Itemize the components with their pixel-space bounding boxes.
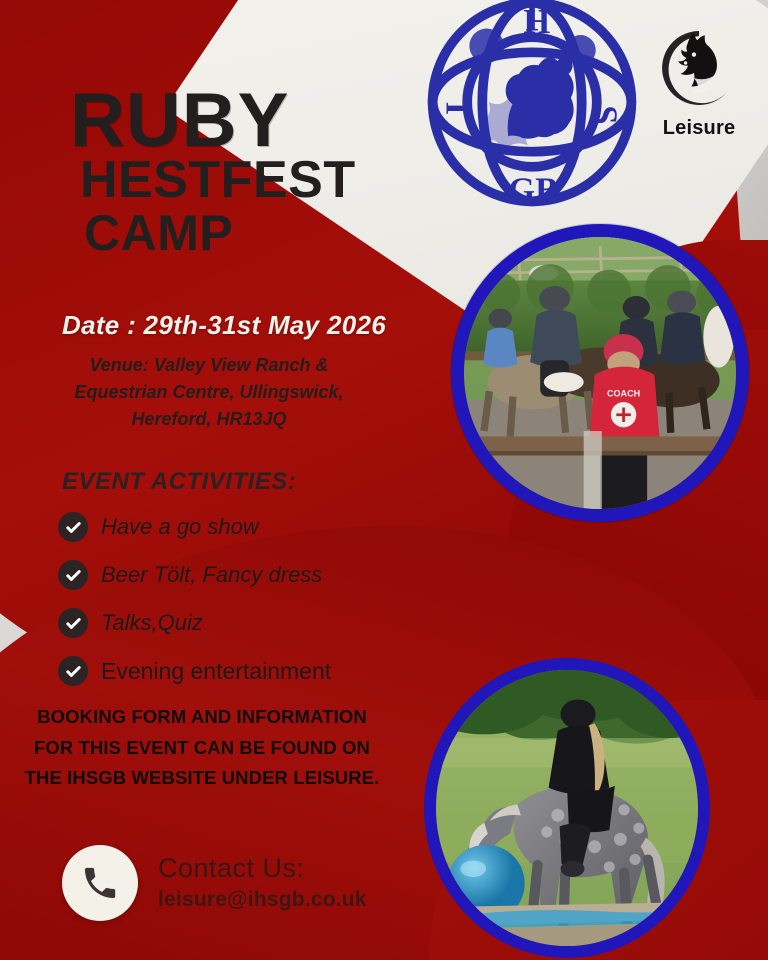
poster-canvas: RUBY HESTFEST CAMP Date : 29th-31st May … xyxy=(0,0,768,960)
logo-letter-gb: GB xyxy=(508,171,558,209)
list-item-label: Talks,Quiz xyxy=(101,610,203,636)
booking-information: BOOKING FORM AND INFORMATION FOR THIS EV… xyxy=(22,702,382,794)
contact-block: Contact Us: leisure@ihsgb.co.uk xyxy=(62,845,367,921)
phone-icon xyxy=(62,845,138,921)
title-line-hestfest: HESTFEST xyxy=(80,153,356,207)
list-item-label: Have a go show xyxy=(101,514,259,540)
event-venue: Venue: Valley View Ranch & Equestrian Ce… xyxy=(44,352,374,433)
photo-riders-with-coach: COACH xyxy=(451,224,749,522)
title-line-ruby: RUBY xyxy=(70,88,356,153)
event-date: Date : 29th-31st May 2026 xyxy=(62,310,386,341)
contact-title: Contact Us: xyxy=(158,854,367,884)
activities-heading: EVENT ACTIVITIES: xyxy=(62,468,296,496)
page-title: RUBY HESTFEST CAMP xyxy=(70,88,356,259)
contact-email: leisure@ihsgb.co.uk xyxy=(158,888,367,912)
title-line-camp: CAMP xyxy=(84,207,356,259)
check-circle-icon xyxy=(58,560,88,590)
contact-text: Contact Us: leisure@ihsgb.co.uk xyxy=(158,854,367,912)
list-item: Beer Tölt, Fancy dress xyxy=(58,560,331,590)
leisure-logo-label: Leisure xyxy=(648,117,750,140)
photo-dapple-grey-horse xyxy=(424,658,710,958)
check-circle-icon xyxy=(58,512,88,542)
ihsgb-roundel-logo: I I H S I GB xyxy=(424,0,640,210)
list-item: Talks,Quiz xyxy=(58,608,331,638)
list-item-label: Evening entertainment xyxy=(101,658,331,685)
list-item-label: Beer Tölt, Fancy dress xyxy=(101,562,322,588)
list-item: Have a go show xyxy=(58,512,331,542)
list-item: Evening entertainment xyxy=(58,656,331,686)
check-circle-icon xyxy=(58,608,88,638)
logo-letter-s: S xyxy=(586,105,624,124)
logo-letter-i: I xyxy=(439,102,477,115)
logo-letter-h: H xyxy=(523,3,550,41)
check-circle-icon xyxy=(58,656,88,686)
activities-list: Have a go show Beer Tölt, Fancy dress Ta… xyxy=(58,512,331,704)
svg-text:COACH: COACH xyxy=(607,389,640,399)
horse-head-icon xyxy=(657,26,741,110)
leisure-horse-logo: Leisure xyxy=(648,26,750,158)
